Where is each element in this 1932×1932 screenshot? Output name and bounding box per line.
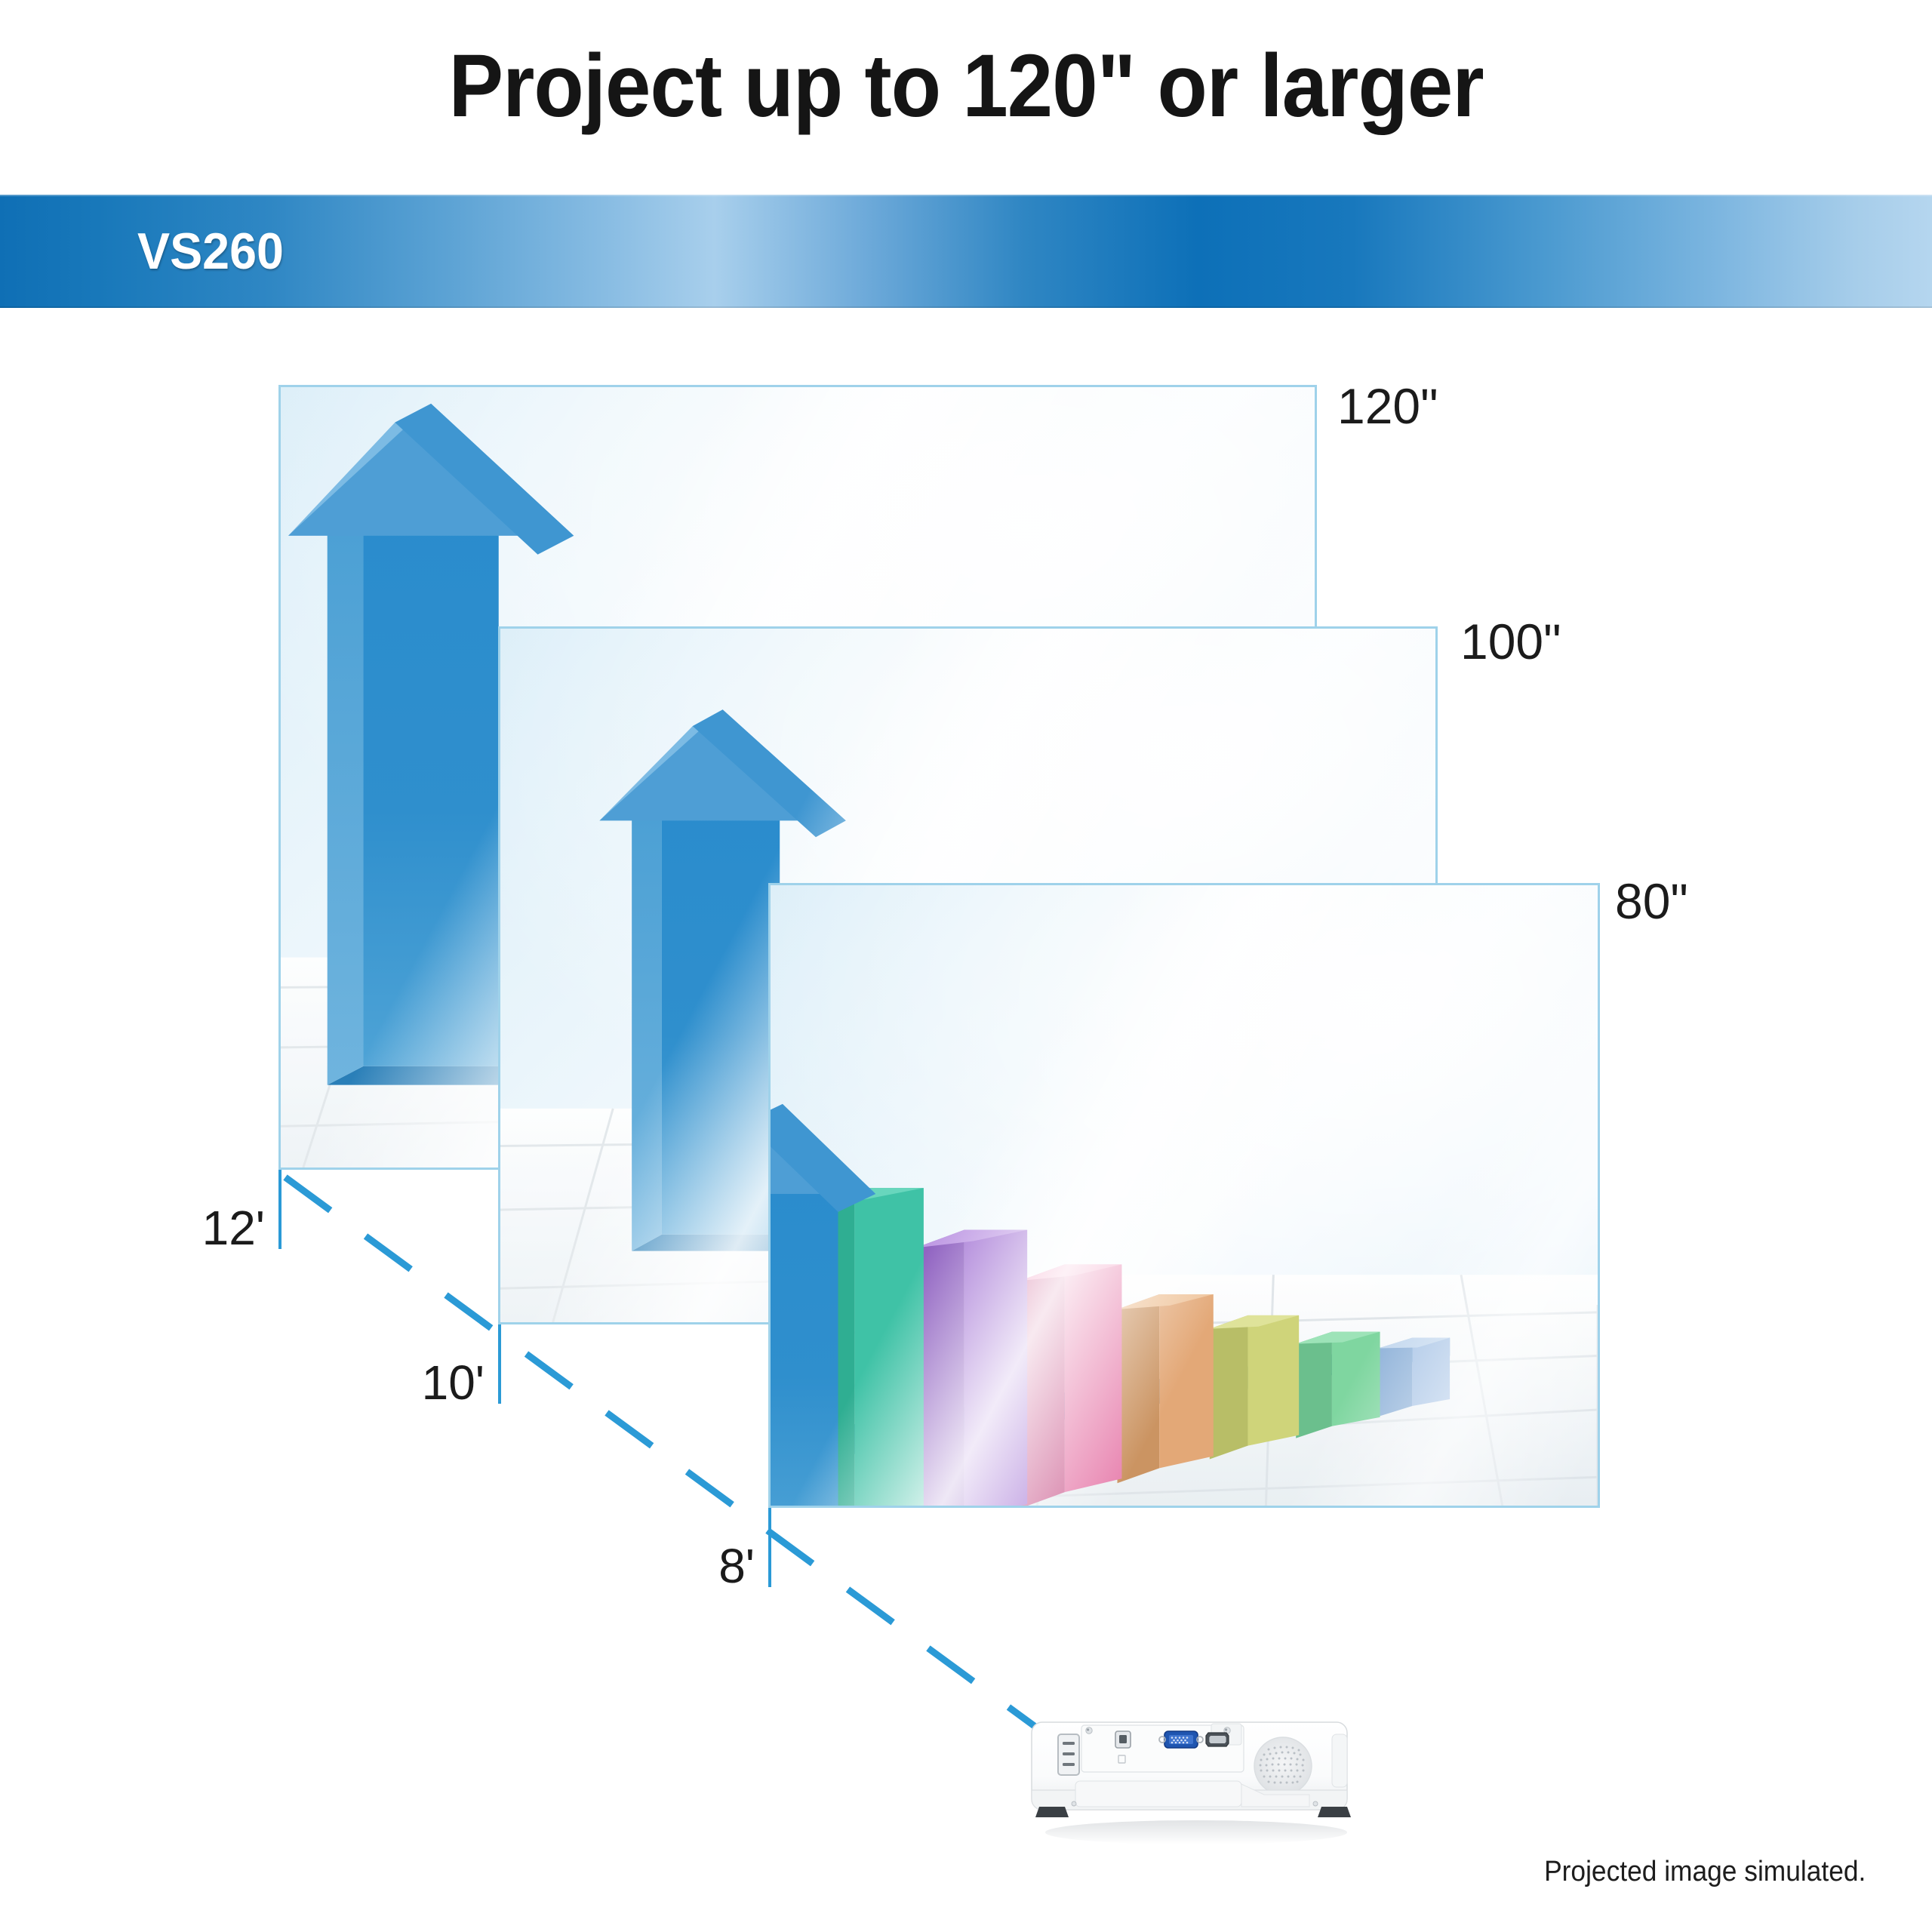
projector-device [1023,1712,1362,1870]
disclaimer-note: Projected image simulated. [1544,1856,1866,1888]
vga-port [1159,1731,1203,1748]
distance-tick-12ft [278,1170,281,1249]
projector-illustration [1023,1712,1362,1870]
model-name-label: VS260 [137,222,284,281]
bar-4 [1117,1294,1213,1483]
foot-right-icon [1318,1807,1351,1817]
bar-2 [915,1230,1027,1506]
usb-b-inner-icon [1119,1735,1127,1743]
foot-screw-right-icon [1313,1801,1318,1806]
model-banner: VS260 [0,195,1932,308]
foot-left-icon [1035,1807,1069,1817]
screen-80-artwork [771,885,1598,1506]
bar-3 [1020,1264,1121,1506]
power-pin-mid-icon [1063,1752,1075,1755]
hdmi-port [1206,1733,1229,1746]
screw-left-icon [1086,1727,1092,1734]
distance-label-8ft: 8' [625,1538,755,1594]
power-pin-bot-icon [1063,1763,1075,1766]
distance-label-10ft: 10' [355,1355,485,1411]
projector-shadow [1045,1820,1347,1844]
screen-size-label-120: 120" [1337,377,1438,435]
screen-size-label-80: 80" [1615,872,1688,930]
projector-lower-plate [1075,1781,1241,1807]
poster-canvas: Project up to 120" or larger VS260 [0,0,1932,1932]
projector-right-panel [1332,1734,1347,1787]
foot-screw-left-icon [1072,1801,1076,1806]
screw-right-slot-icon [1225,1728,1227,1730]
page-title: Project up to 120" or larger [0,42,1932,131]
power-pin-top-icon [1063,1742,1075,1745]
distance-tick-10ft [498,1324,501,1404]
screw-left-slot-icon [1087,1728,1089,1730]
page-title-text: Project up to 120" or larger [448,42,1483,131]
screen-size-label-100: 100" [1460,613,1561,670]
distance-label-12ft: 12' [135,1200,265,1256]
projection-screen-80 [768,883,1600,1508]
distance-tick-8ft [768,1508,771,1587]
bar-5 [1210,1315,1299,1460]
screen-80-scene [771,885,1598,1506]
